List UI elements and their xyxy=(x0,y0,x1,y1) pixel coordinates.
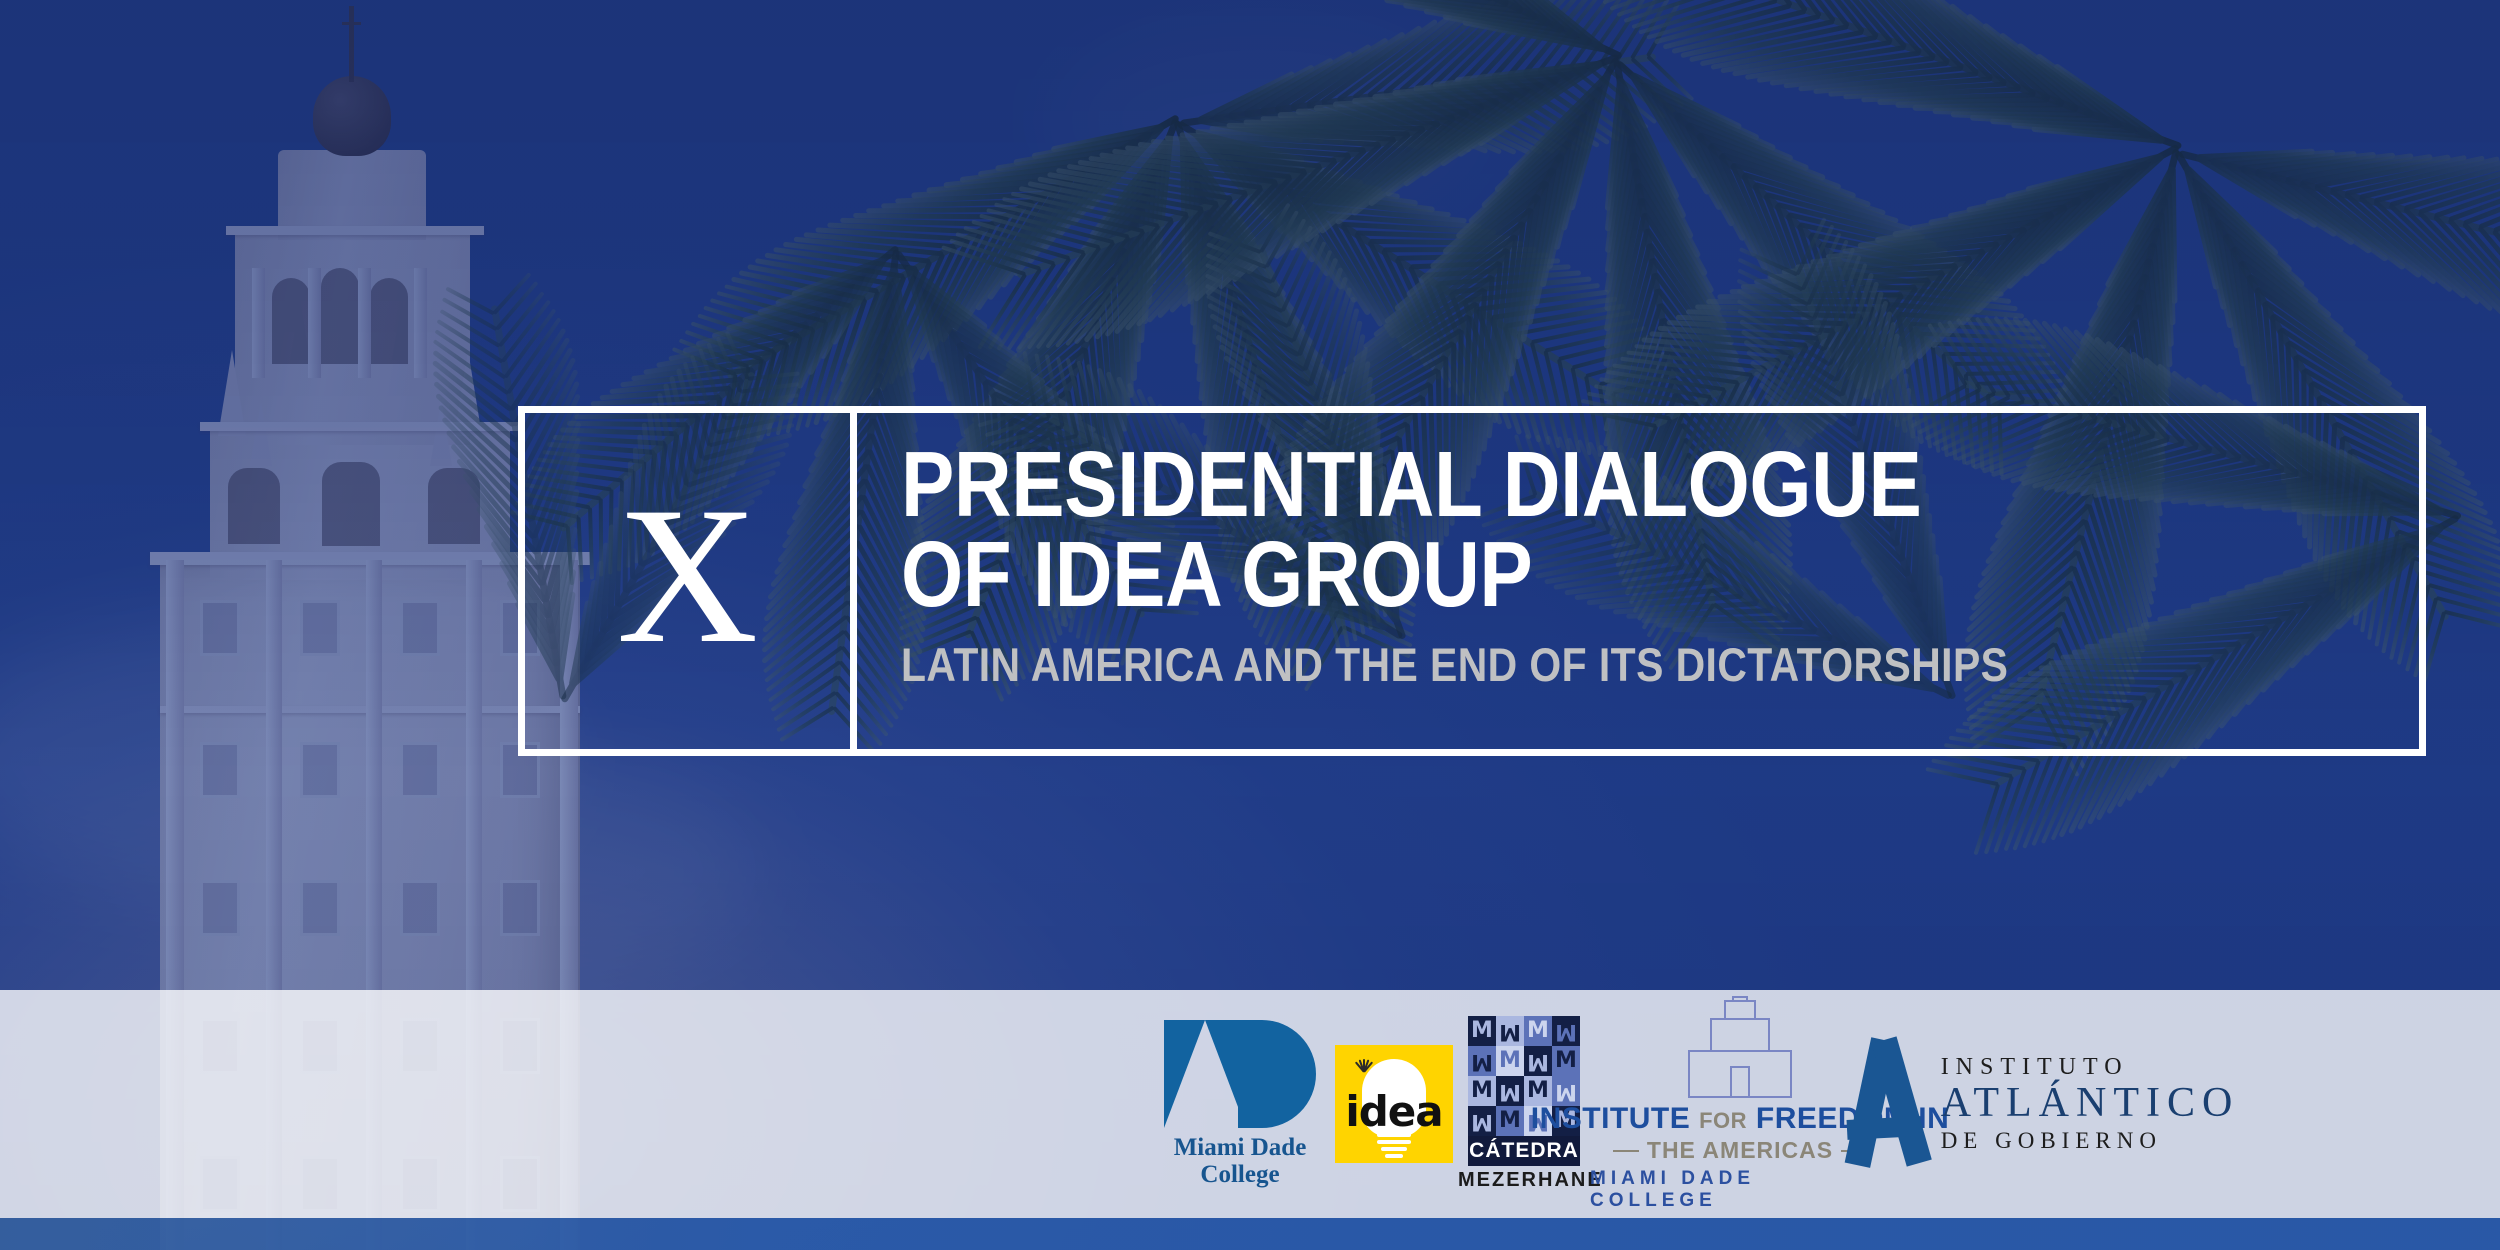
event-title-line-1: PRESIDENTIAL DIALOGUE xyxy=(901,439,2181,529)
catedra-tile: M xyxy=(1552,1016,1580,1046)
iag-line-2: ATLÁNTICO xyxy=(1941,1081,2240,1125)
catedra-bar-label: CÁTEDRA xyxy=(1468,1136,1580,1166)
catedra-tile: M xyxy=(1496,1046,1524,1076)
ifa-line3: MIAMI DADE COLLEGE xyxy=(1590,1168,1890,1212)
ifa-line2: THE AMERICAS xyxy=(1647,1137,1833,1164)
mdc-name-line-2: College xyxy=(1174,1161,1307,1188)
logo-idea-group[interactable]: idea xyxy=(1330,990,1458,1218)
title-text-block: PRESIDENTIAL DIALOGUE OF IDEA GROUP LATI… xyxy=(857,413,2419,749)
catedra-tile: M xyxy=(1468,1076,1496,1106)
event-banner: X PRESIDENTIAL DIALOGUE OF IDEA GROUP LA… xyxy=(0,0,2500,1250)
freedom-tower-icon xyxy=(1680,996,1800,1100)
catedra-tile: M xyxy=(1496,1076,1524,1106)
event-title-line-2: OF IDEA GROUP xyxy=(901,529,2181,619)
idea-wordmark: idea xyxy=(1335,1087,1453,1136)
iag-line-1: INSTITUTO xyxy=(1941,1054,2129,1081)
ifa-line1-for: FOR xyxy=(1699,1108,1747,1133)
title-frame: X PRESIDENTIAL DIALOGUE OF IDEA GROUP LA… xyxy=(518,406,2426,756)
edition-numeral: X xyxy=(617,500,759,653)
catedra-sub-label: MEZERHANE xyxy=(1458,1169,1590,1192)
logo-instituto-atlantico[interactable]: INSTITUTO ATLÁNTICO DE GOBIERNO xyxy=(1890,990,2190,1218)
event-subtitle: LATIN AMERICA AND THE END OF ITS DICTATO… xyxy=(901,641,2196,688)
sponsor-logo-row: Miami Dade College idea xyxy=(1150,990,2390,1218)
atlantico-a-monogram-icon xyxy=(1841,1040,1933,1168)
footer-accent-bar xyxy=(0,1218,2500,1250)
catedra-tile: M xyxy=(1468,1106,1496,1136)
edition-numeral-box: X xyxy=(525,413,857,749)
ifa-line1-institute: INSTITUTE xyxy=(1531,1102,1691,1135)
catedra-tile: M xyxy=(1524,1046,1552,1076)
logo-miami-dade-college[interactable]: Miami Dade College xyxy=(1150,990,1330,1218)
mdc-name-line-1: Miami Dade xyxy=(1174,1134,1307,1161)
lightbulb-base-icon xyxy=(1377,1133,1411,1159)
iag-line-3: DE GOBIERNO xyxy=(1941,1128,2162,1154)
catedra-tile: M xyxy=(1496,1016,1524,1046)
catedra-tile: M xyxy=(1552,1046,1580,1076)
catedra-tile: M xyxy=(1468,1016,1496,1046)
miami-dade-monogram-icon xyxy=(1164,1020,1316,1128)
catedra-tile: M xyxy=(1524,1016,1552,1046)
catedra-tile: M xyxy=(1496,1106,1524,1136)
catedra-tile: M xyxy=(1468,1046,1496,1076)
